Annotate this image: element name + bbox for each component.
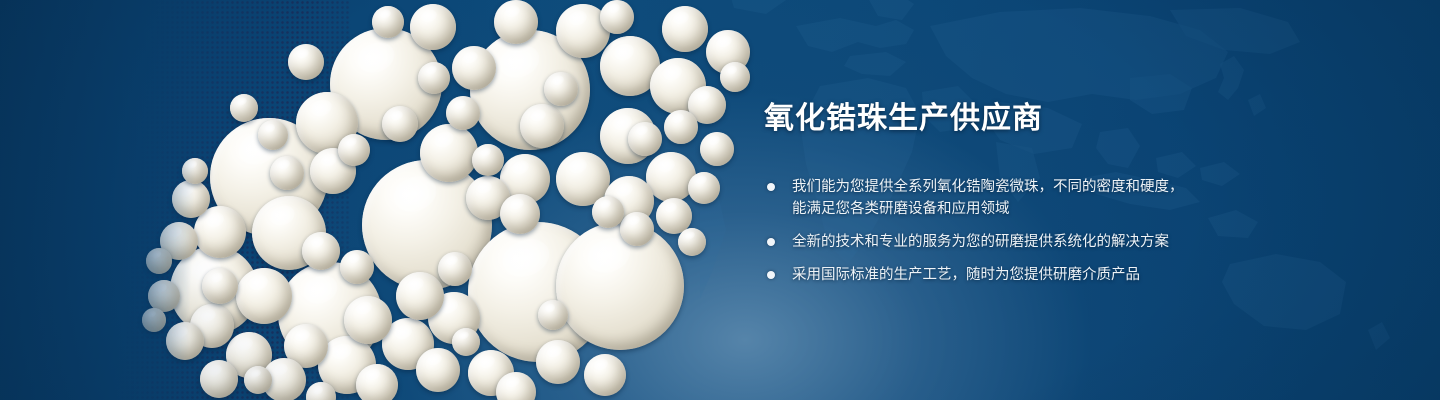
banner-copy: 氧化锆珠生产供应商 我们能为您提供全系列氧化锆陶瓷微珠，不同的密度和硬度， 能满… bbox=[764, 104, 1404, 286]
page-title: 氧化锆珠生产供应商 bbox=[764, 104, 1404, 134]
list-item-line1: 全新的技术和专业的服务为您的研磨提供系统化的解决方案 bbox=[792, 234, 1169, 250]
list-item: 采用国际标准的生产工艺，随时为您提供研磨介质产品 bbox=[764, 264, 1404, 286]
list-item-line2: 能满足您各类研磨设备和应用领域 bbox=[792, 198, 1404, 220]
list-item: 全新的技术和专业的服务为您的研磨提供系统化的解决方案 bbox=[764, 231, 1404, 253]
list-item-line1: 我们能为您提供全系列氧化锆陶瓷微珠，不同的密度和硬度， bbox=[792, 179, 1184, 195]
bullet-dot-icon bbox=[767, 183, 775, 191]
list-item-line1: 采用国际标准的生产工艺，随时为您提供研磨介质产品 bbox=[792, 267, 1140, 283]
feature-list: 我们能为您提供全系列氧化锆陶瓷微珠，不同的密度和硬度， 能满足您各类研磨设备和应… bbox=[764, 176, 1404, 286]
list-item: 我们能为您提供全系列氧化锆陶瓷微珠，不同的密度和硬度， 能满足您各类研磨设备和应… bbox=[764, 176, 1404, 220]
bullet-dot-icon bbox=[767, 271, 775, 279]
bullet-dot-icon bbox=[767, 238, 775, 246]
hero-banner: 氧化锆珠生产供应商 我们能为您提供全系列氧化锆陶瓷微珠，不同的密度和硬度， 能满… bbox=[0, 0, 1440, 400]
